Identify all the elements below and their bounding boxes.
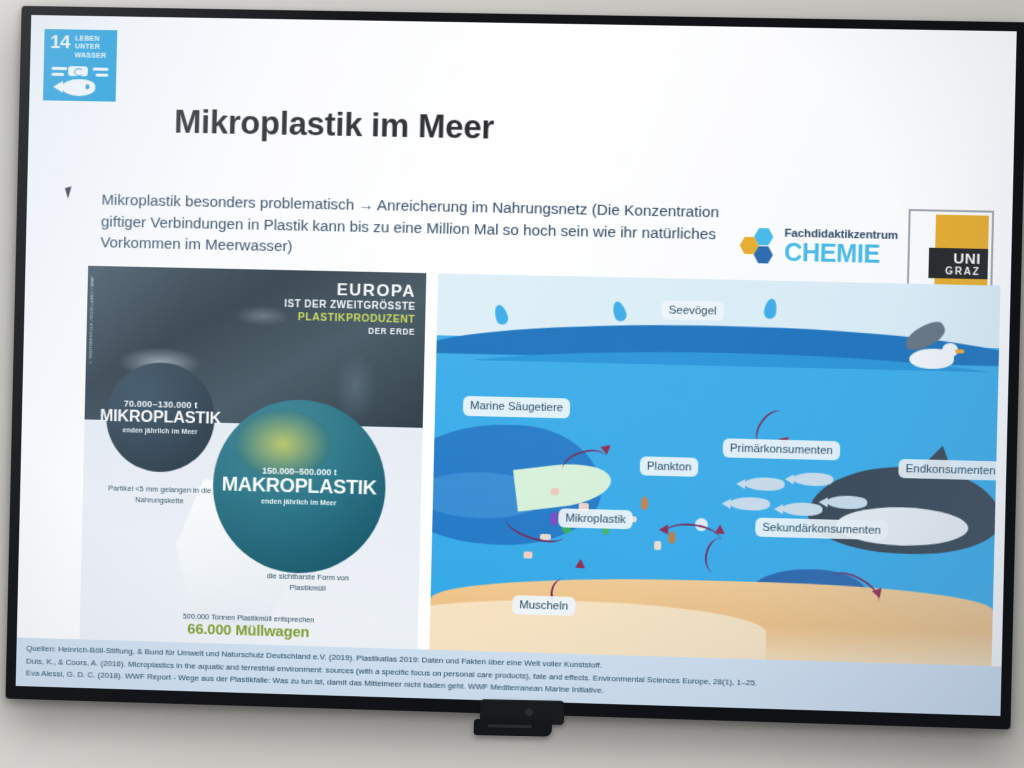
- seagull-illustration: [901, 332, 965, 374]
- label-primaerkonsumenten: Primärkonsumenten: [723, 438, 841, 460]
- uni-logo-line2: GRAZ: [945, 267, 981, 278]
- label-endkonsumenten: Endkonsumenten: [898, 459, 1000, 481]
- slide-body-text: Mikroplastik besonders problematisch → A…: [100, 190, 728, 268]
- recycle-symbol-icon: [68, 67, 88, 77]
- webcam-mount-clip: [474, 719, 552, 737]
- microplastic-particle: [523, 551, 532, 558]
- uni-graz-logo: UNI GRAZ: [907, 209, 994, 294]
- uni-logo-line1: UNI: [953, 251, 981, 267]
- microplastic-sub: enden jährlich im Meer: [123, 427, 198, 436]
- fdz-logo-line2: CHEMIE: [784, 241, 881, 268]
- page-title: Mikroplastik im Meer: [174, 103, 733, 151]
- mouse-cursor: [65, 186, 75, 198]
- label-seevoegel: Seevögel: [661, 300, 723, 321]
- sdg-badge-header: 14 LEBEN UNTER WASSER: [50, 34, 111, 60]
- microplastic-particle: [551, 488, 559, 495]
- plastic-infographic-image: © SHUTTERSTOCK / RICH CAREY / WWF EUROPA…: [79, 266, 426, 651]
- hexagon-icon: [739, 228, 784, 273]
- microplastic-caption: Partikel <5 mm gelangen in die Nahrungsk…: [96, 482, 223, 507]
- webcam: [474, 699, 571, 741]
- fish-waves-icon: [49, 63, 111, 102]
- macroplastic-sub: enden jährlich im Meer: [261, 498, 336, 507]
- label-muscheln: Muscheln: [512, 595, 575, 616]
- sdg-title-line2: UNTER WASSER: [74, 43, 111, 60]
- marine-food-web-diagram: Seevögel Marine Säugetiere Plankton Prim…: [429, 273, 1000, 667]
- fish-icon: [62, 79, 96, 96]
- wall-mounted-tv: 14 LEBEN UNTER WASSER Mikroplastik im Me: [6, 6, 1024, 730]
- plankton-icon: [641, 496, 648, 509]
- tv-screen: 14 LEBEN UNTER WASSER Mikroplastik im Me: [16, 15, 1017, 716]
- sdg-number: 14: [50, 34, 70, 52]
- fachdidaktikzentrum-chemie-logo: Fachdidaktikzentrum CHEMIE: [739, 220, 894, 282]
- sdg-14-badge: 14 LEBEN UNTER WASSER: [43, 29, 117, 102]
- label-plankton: Plankton: [640, 456, 699, 477]
- food-web-arrow-head: [715, 524, 726, 534]
- microplastic-particle: [654, 541, 661, 550]
- presentation-slide: 14 LEBEN UNTER WASSER Mikroplastik im Me: [16, 15, 1017, 716]
- europe-headline: EUROPA IST DER ZWEITGRÖSSTE PLASTIKPRODU…: [284, 280, 417, 339]
- macroplastic-label: MAKROPLASTIK: [222, 475, 377, 500]
- food-web-arrow-head: [575, 559, 586, 569]
- label-sekundaerkonsumenten: Sekundärkonsumenten: [755, 518, 888, 541]
- label-marine-saeugetiere: Marine Säugetiere: [463, 396, 570, 418]
- label-mikroplastik: Mikroplastik: [558, 508, 633, 529]
- webcam-lens-icon: [524, 707, 534, 717]
- infographic-footer: 500.000 Tonnen Plastikmüll entsprechen 6…: [80, 609, 419, 645]
- food-web-arrow-head: [659, 525, 668, 535]
- macroplastic-caption: die sichtbarste Form von Plastikmüll: [248, 570, 367, 595]
- microplastic-label: MIKROPLASTIK: [100, 408, 222, 428]
- sdg-title: LEBEN UNTER WASSER: [74, 35, 111, 61]
